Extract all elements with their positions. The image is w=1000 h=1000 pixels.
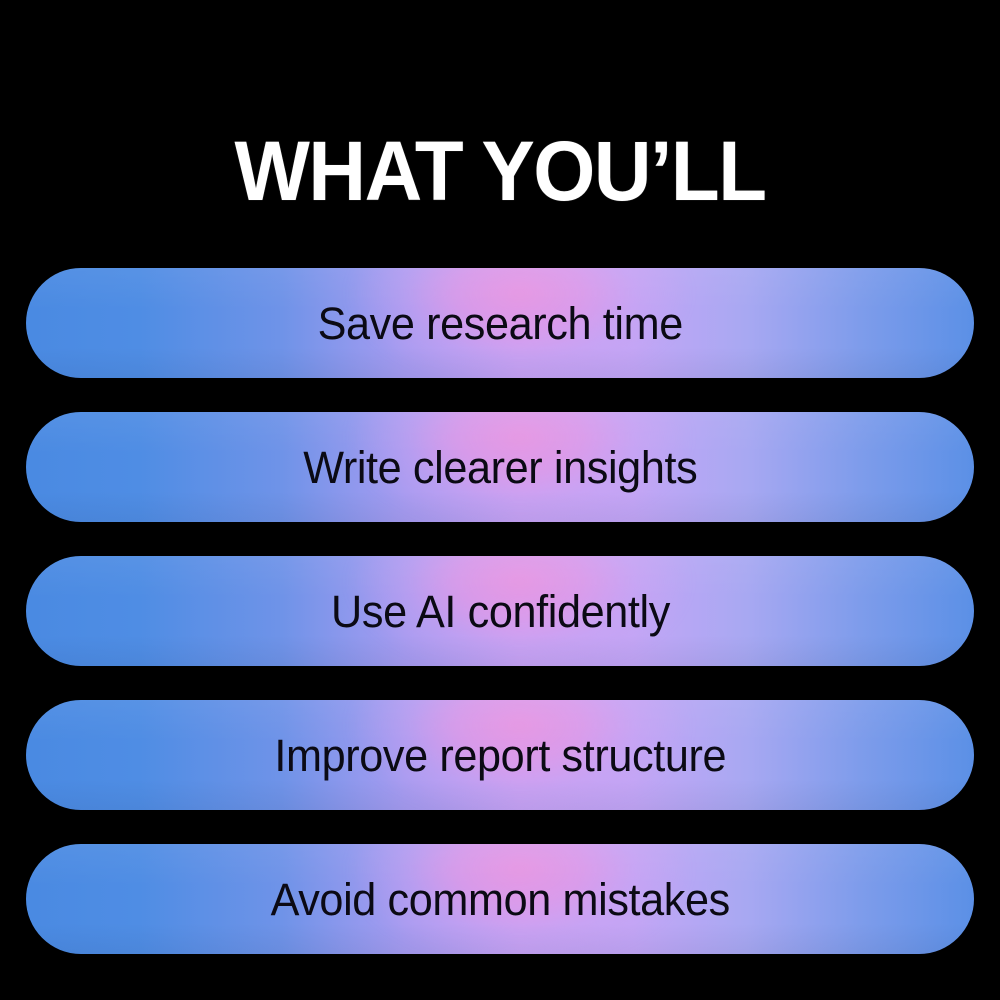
benefit-pill-label: Improve report structure — [274, 733, 726, 778]
benefit-pill[interactable]: Save research time — [26, 268, 974, 378]
benefit-pill-label: Write clearer insights — [303, 445, 697, 490]
benefit-pill[interactable]: Write clearer insights — [26, 412, 974, 522]
page-title-line-1: WHAT YOU’LL — [25, 130, 975, 212]
benefit-pill[interactable]: Avoid common mistakes — [26, 844, 974, 954]
benefit-pill[interactable]: Improve report structure — [26, 700, 974, 810]
benefit-list: Save research time Write clearer insight… — [26, 268, 974, 954]
benefit-pill-label: Use AI confidently — [331, 589, 670, 634]
benefit-pill-label: Avoid common mistakes — [270, 877, 729, 922]
benefit-pill[interactable]: Use AI confidently — [26, 556, 974, 666]
benefit-pill-label: Save research time — [317, 301, 682, 346]
poster-canvas: WHAT YOU’LL LEARN INSIDE Save research t… — [0, 0, 1000, 1000]
